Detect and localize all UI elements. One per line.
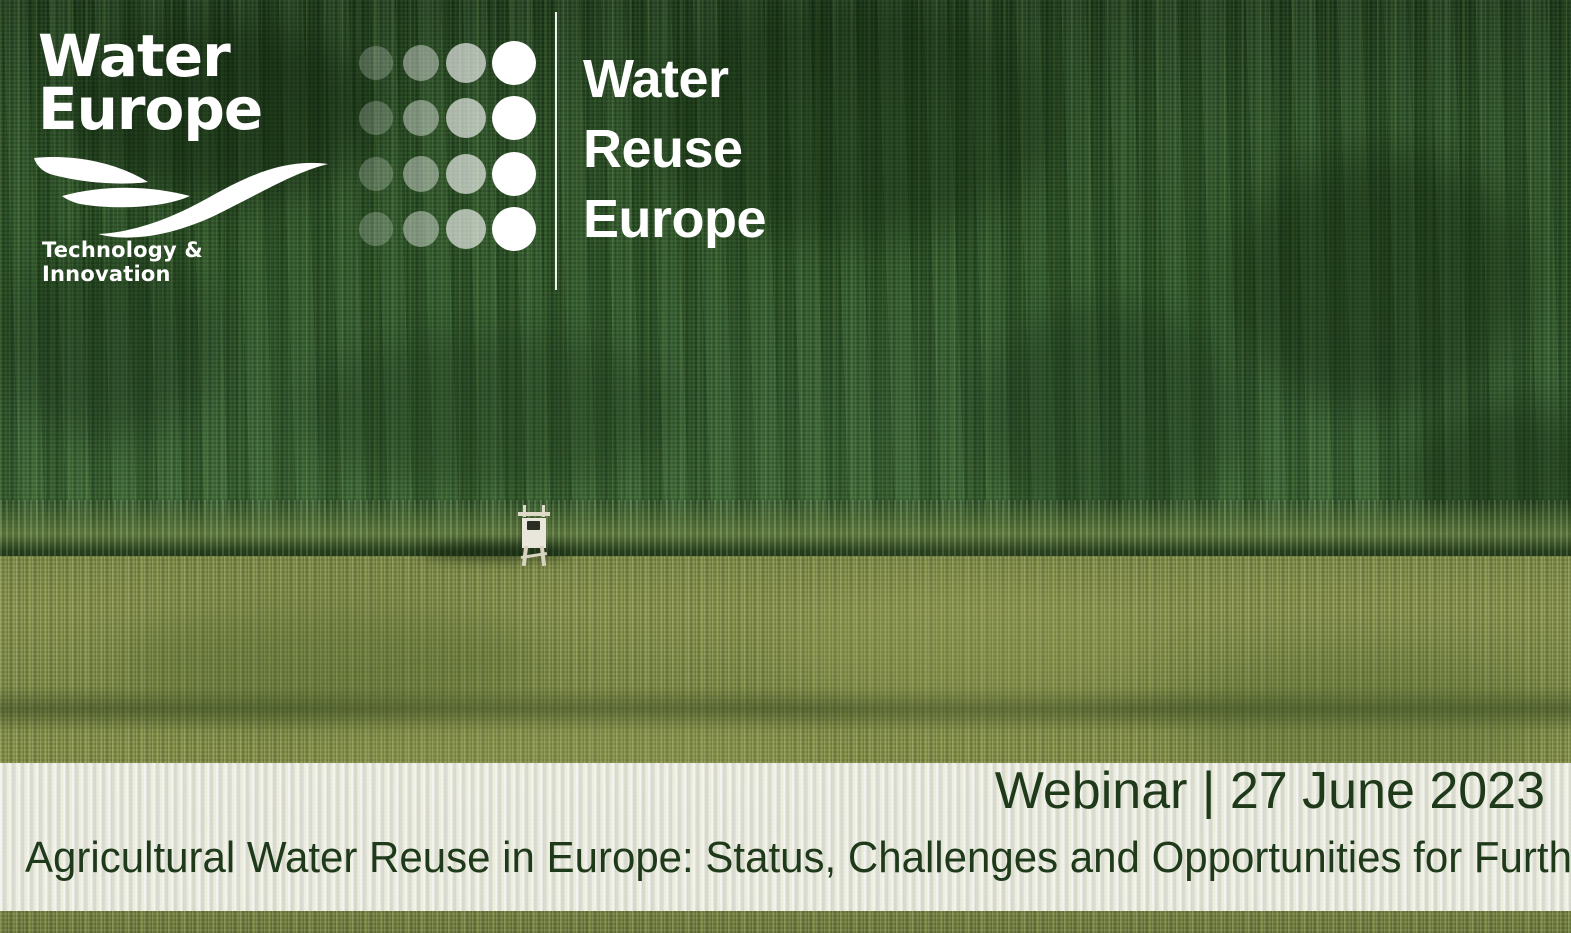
logo-lockup: Water Europe Technology & Innovation	[0, 0, 780, 300]
dot-r1c4	[492, 41, 536, 85]
dot-r2c3	[446, 98, 486, 138]
hide-cabin	[522, 518, 546, 548]
field-boundary-track	[0, 500, 1571, 562]
hide-ground-shadow	[420, 544, 570, 560]
title-banner-content: Webinar | 27 June 2023 Agricultural Wate…	[0, 763, 1571, 911]
field-shadow-patch	[300, 330, 680, 490]
dot-r2c2	[403, 100, 439, 136]
field-shadow-patch	[1230, 150, 1530, 410]
webinar-title-slide: Water Europe Technology & Innovation	[0, 0, 1571, 933]
dot-r2c4	[492, 96, 536, 140]
webinar-date-title: Webinar | 27 June 2023	[995, 763, 1545, 821]
water-wave-swoosh-icon	[32, 152, 332, 242]
dot-grid-graphic	[356, 38, 536, 254]
hide-railing	[518, 512, 550, 516]
lockup-divider	[555, 12, 557, 290]
hunting-hide-structure	[516, 500, 552, 566]
title-banner: Webinar | 27 June 2023 Agricultural Wate…	[0, 763, 1571, 911]
dot-r4c4	[492, 207, 536, 251]
field-shadow-patch	[120, 596, 540, 716]
dot-r1c3	[446, 43, 486, 83]
dot-r3c2	[403, 156, 439, 192]
webinar-subtitle: Agricultural Water Reuse in Europe: Stat…	[25, 833, 1477, 883]
dot-r1c2	[403, 45, 439, 81]
dot-r3c3	[446, 154, 486, 194]
water-europe-logo: Water Europe Technology & Innovation	[36, 30, 336, 260]
water-europe-tagline: Technology & Innovation	[42, 238, 334, 286]
water-reuse-europe-line-1: Water	[583, 44, 843, 114]
dot-r3c4	[492, 152, 536, 196]
dot-r4c3	[446, 209, 486, 249]
water-reuse-europe-wordmark: Water Reuse Europe	[583, 44, 843, 255]
field-shadow-patch	[780, 576, 1160, 716]
dot-r4c1	[359, 212, 393, 246]
water-reuse-europe-line-3: Europe	[583, 184, 843, 254]
dot-r1c1	[359, 46, 393, 80]
field-shadow-patch	[980, 300, 1240, 530]
water-europe-wordmark: Water Europe	[38, 30, 336, 137]
water-reuse-europe-line-2: Reuse	[583, 114, 843, 184]
dot-r4c2	[403, 211, 439, 247]
dot-r2c1	[359, 101, 393, 135]
water-europe-wordmark-line-2: Europe	[38, 83, 336, 136]
dot-r3c1	[359, 157, 393, 191]
